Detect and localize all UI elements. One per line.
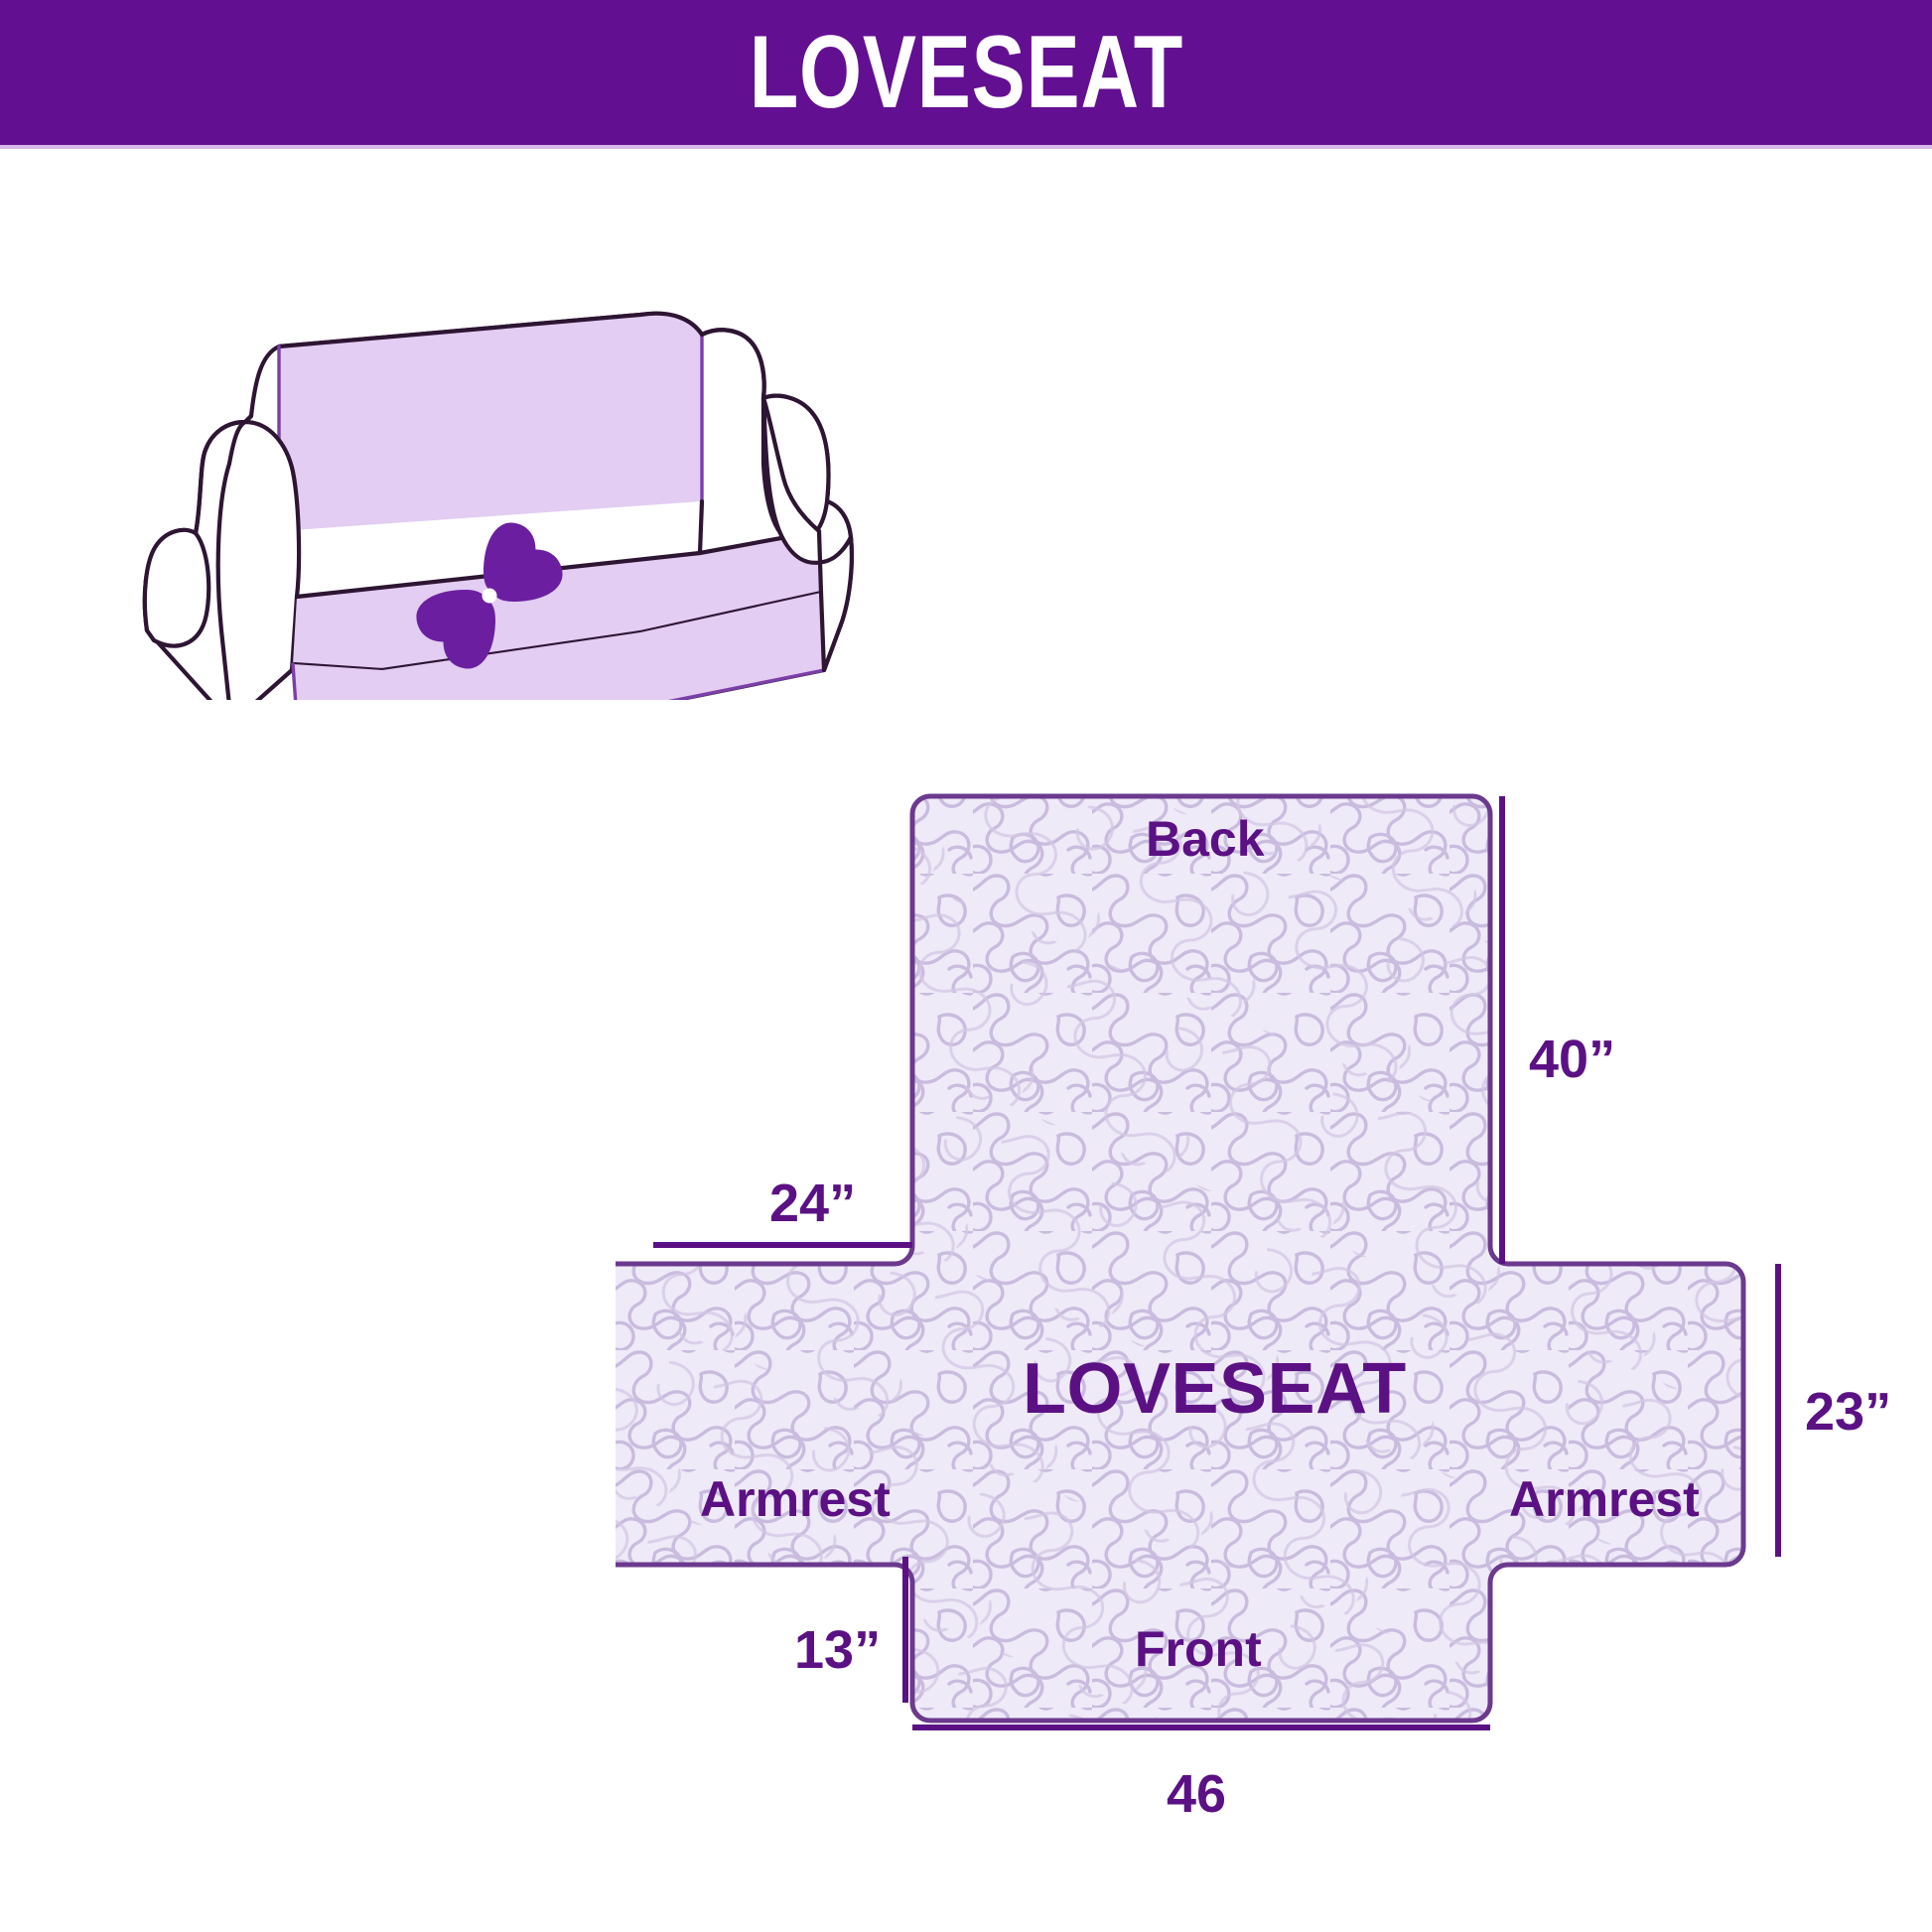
dimension-label-armrest-width: 24” [769,1176,856,1230]
dimension-label-front-height: 13” [794,1623,881,1677]
loveseat-illustration: .ln { fill:none; stroke:#2E1533; stroke-… [84,204,898,700]
dimension-label-total-width: 46 [1167,1767,1226,1821]
panel-label-armrest-left: Armrest [700,1474,891,1524]
page-title: LOVESEAT [749,21,1182,124]
dimension-label-armrest-height: 23” [1805,1385,1891,1439]
dimension-label-back-height: 40” [1529,1033,1615,1086]
diagram-center-label: LOVESEAT [1023,1353,1407,1425]
cover-pattern-diagram [616,755,1932,1932]
panel-label-back: Back [1146,814,1265,864]
panel-label-armrest-right: Armrest [1509,1474,1700,1524]
header-banner: LOVESEAT [0,0,1932,145]
quilted-fill [616,755,1932,1932]
panel-label-front: Front [1135,1624,1262,1674]
